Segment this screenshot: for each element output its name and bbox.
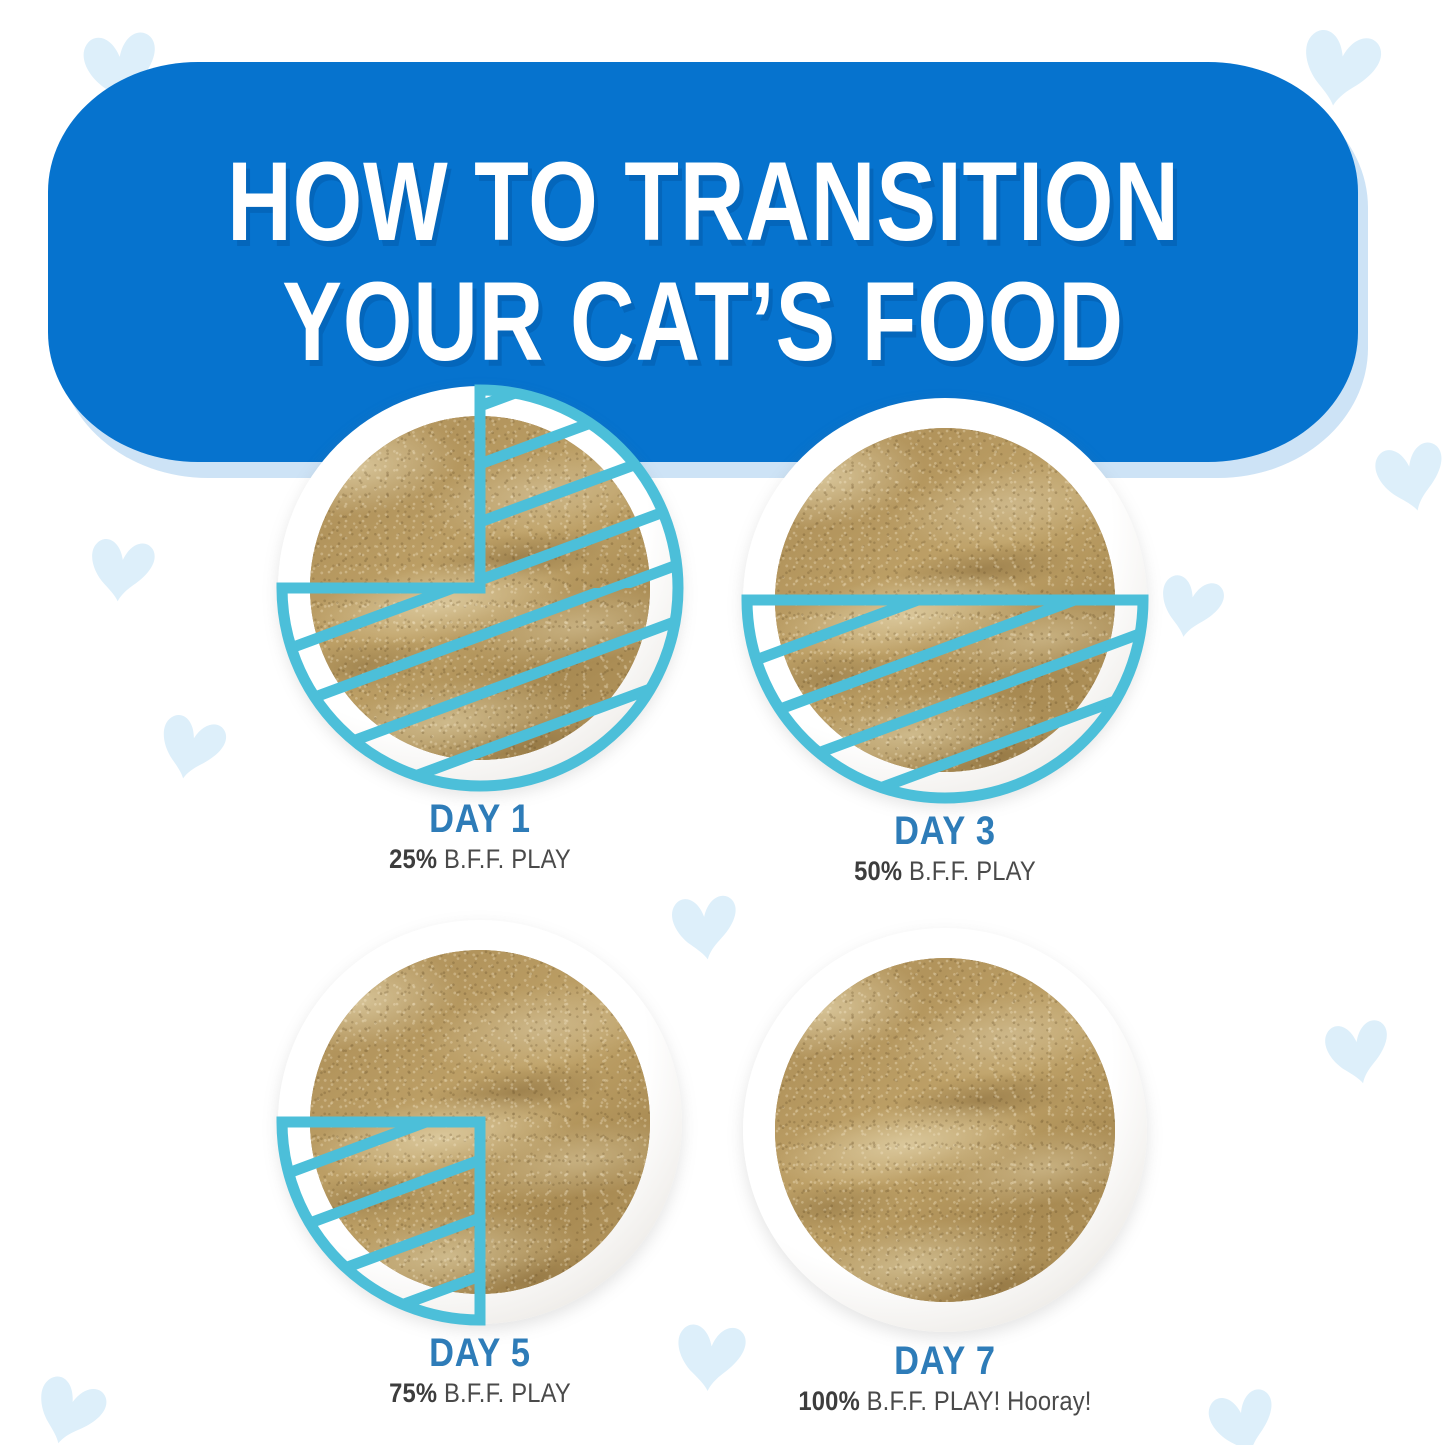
title-line-1: HOW TO TRANSITION [227,146,1180,258]
day-label-day1: DAY 1 [278,798,682,840]
bowl-food-surface [310,416,650,760]
ratio-percent-day5: 75% [389,1378,437,1408]
title-line-2: YOUR CAT’S FOOD [282,266,1124,378]
pate-grain [775,428,1115,772]
bowl-day5 [278,920,682,1324]
bowl-food-surface [310,950,650,1294]
ratio-rest-day5: B.F.F. PLAY [437,1378,571,1408]
pate-grain [310,950,650,1294]
bowl-day3 [743,398,1147,802]
ratio-rest-day3: B.F.F. PLAY [902,856,1036,886]
heart-icon [17,1357,123,1445]
day-label-day5: DAY 5 [278,1332,682,1374]
ratio-label-day3: 50% B.F.F. PLAY [738,856,1152,887]
bowl-food-surface [775,428,1115,772]
pate-grain [310,416,650,760]
heart-icon [1312,1004,1405,1097]
ratio-rest-day7: B.F.F. PLAY! Hooray! [860,1386,1092,1416]
infographic-page: HOW TO TRANSITION YOUR CAT’S FOOD [0,0,1445,1445]
pate-grain [775,958,1115,1302]
step-card-day3: DAY 3 50% B.F.F. PLAY [710,398,1180,887]
heart-icon [1193,1371,1292,1445]
ratio-percent-day1: 25% [389,844,437,874]
ratio-rest-day1: B.F.F. PLAY [437,844,571,874]
ratio-label-day1: 25% B.F.F. PLAY [273,844,687,875]
bowl-day7 [743,928,1147,1332]
ratio-percent-day3: 50% [854,856,902,886]
ratio-percent-day7: 100% [798,1386,859,1416]
day-label-day7: DAY 7 [743,1340,1147,1382]
bowl-day1 [278,386,682,790]
heart-icon [144,698,241,795]
ratio-label-day7: 100% B.F.F. PLAY! Hooray! [738,1386,1152,1417]
step-card-day1: DAY 1 25% B.F.F. PLAY [245,386,715,875]
step-card-day5: DAY 5 75% B.F.F. PLAY [245,920,715,1409]
day-label-day3: DAY 3 [743,810,1147,852]
step-card-day7: DAY 7 100% B.F.F. PLAY! Hooray! [710,928,1180,1417]
ratio-label-day5: 75% B.F.F. PLAY [273,1378,687,1409]
heart-icon [78,524,166,612]
bowl-food-surface [775,958,1115,1302]
heart-icon [1360,424,1445,526]
